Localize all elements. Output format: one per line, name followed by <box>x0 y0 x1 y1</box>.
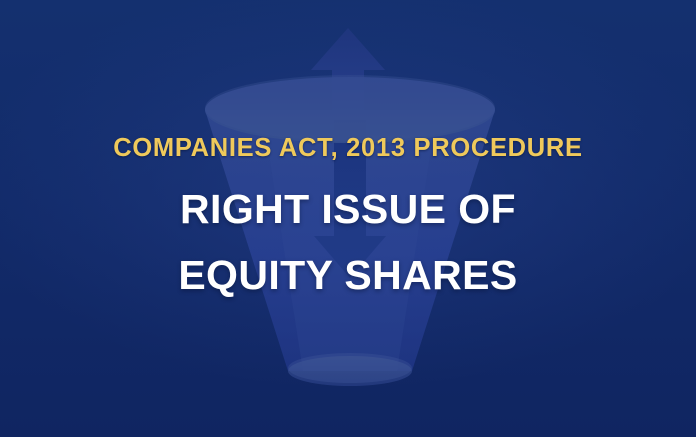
banner-headline-line2: EQUITY SHARES <box>178 255 517 296</box>
banner-headline-line1: RIGHT ISSUE OF <box>180 189 516 230</box>
banner-eyebrow: COMPANIES ACT, 2013 PROCEDURE <box>113 136 582 162</box>
banner-text-block: COMPANIES ACT, 2013 PROCEDURE RIGHT ISSU… <box>0 0 696 437</box>
promo-banner: COMPANIES ACT, 2013 PROCEDURE RIGHT ISSU… <box>0 0 696 437</box>
